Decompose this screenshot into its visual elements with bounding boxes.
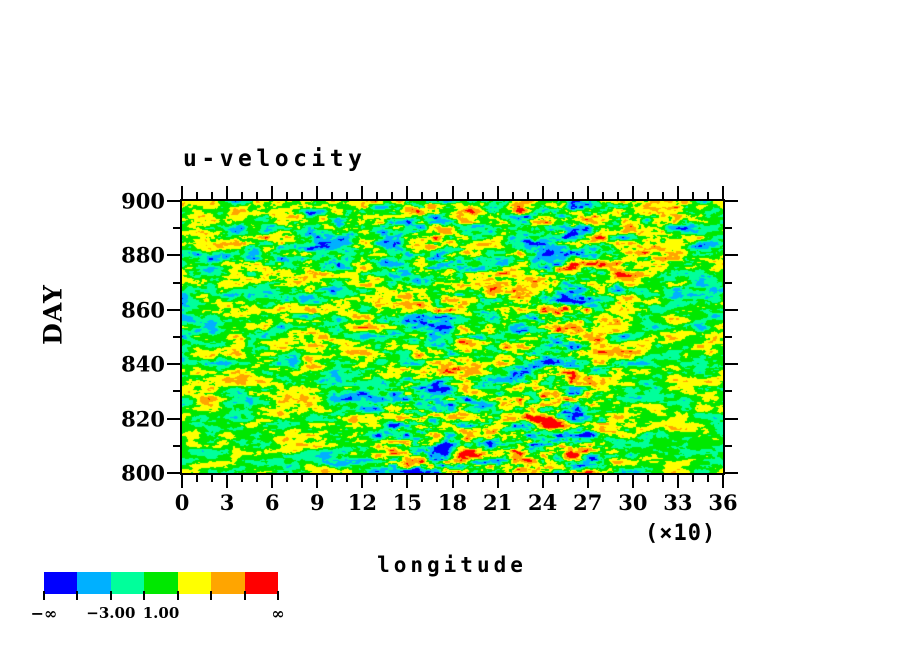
- x-major-tick: [632, 475, 634, 488]
- x-minor-tick: [512, 192, 514, 199]
- x-tick-label: 36: [708, 490, 737, 515]
- x-minor-tick: [421, 475, 423, 482]
- x-minor-tick: [647, 475, 649, 482]
- x-major-tick: [271, 186, 273, 199]
- y-major-tick: [167, 200, 180, 202]
- x-minor-tick: [692, 475, 694, 482]
- x-minor-tick: [196, 475, 198, 482]
- plot-title: u-velocity: [183, 146, 366, 172]
- colorbar-swatch: [111, 572, 144, 594]
- y-major-tick: [725, 254, 738, 256]
- x-minor-tick: [376, 475, 378, 482]
- x-minor-tick: [662, 192, 664, 199]
- x-major-tick: [271, 475, 273, 488]
- x-tick-label: 27: [573, 490, 602, 515]
- x-minor-tick: [527, 475, 529, 482]
- x-minor-tick: [346, 192, 348, 199]
- x-minor-tick: [301, 475, 303, 482]
- x-major-tick: [497, 475, 499, 488]
- y-major-tick: [725, 418, 738, 420]
- colorbar-swatch: [245, 572, 278, 594]
- y-tick-label: 820: [121, 406, 165, 431]
- y-tick-label: 860: [121, 297, 165, 322]
- x-tick-label: 33: [663, 490, 692, 515]
- colorbar-label: −∞: [31, 604, 58, 623]
- plot-frame: [180, 199, 725, 475]
- x-major-tick: [316, 186, 318, 199]
- x-major-tick: [677, 186, 679, 199]
- x-minor-tick: [196, 192, 198, 199]
- y-major-tick: [167, 309, 180, 311]
- x-major-tick: [406, 475, 408, 488]
- colorbar-tick: [43, 591, 45, 600]
- x-tick-label: 0: [175, 490, 190, 515]
- figure-canvas: u-velocity 0369121518212427303336 900880…: [0, 0, 904, 654]
- y-major-tick: [725, 472, 738, 474]
- x-minor-tick: [572, 475, 574, 482]
- x-major-tick: [361, 186, 363, 199]
- y-minor-tick: [173, 445, 180, 447]
- x-major-tick: [406, 186, 408, 199]
- x-major-tick: [497, 186, 499, 199]
- x-major-tick: [632, 186, 634, 199]
- x-minor-tick: [376, 192, 378, 199]
- x-minor-tick: [391, 475, 393, 482]
- x-major-tick: [226, 475, 228, 488]
- x-major-tick: [316, 475, 318, 488]
- x-minor-tick: [436, 475, 438, 482]
- x-minor-tick: [512, 475, 514, 482]
- x-major-tick: [722, 475, 724, 488]
- x-minor-tick: [331, 475, 333, 482]
- x-tick-label: 30: [618, 490, 647, 515]
- x-major-tick: [542, 475, 544, 488]
- x-minor-tick: [647, 192, 649, 199]
- x-minor-tick: [707, 475, 709, 482]
- x-major-tick: [226, 186, 228, 199]
- y-major-tick: [167, 363, 180, 365]
- y-minor-tick: [173, 336, 180, 338]
- x-minor-tick: [572, 192, 574, 199]
- x-tick-label: 12: [348, 490, 377, 515]
- colorbar-label: ∞: [271, 604, 284, 623]
- x-minor-tick: [286, 192, 288, 199]
- x-minor-tick: [346, 475, 348, 482]
- x-minor-tick: [241, 475, 243, 482]
- x-minor-tick: [421, 192, 423, 199]
- y-minor-tick: [173, 227, 180, 229]
- x-major-tick: [181, 475, 183, 488]
- y-minor-tick: [725, 336, 732, 338]
- x-minor-tick: [436, 192, 438, 199]
- colorbar-swatch: [211, 572, 244, 594]
- x-minor-tick: [286, 475, 288, 482]
- x-minor-tick: [662, 475, 664, 482]
- x-major-tick: [722, 186, 724, 199]
- y-axis-title: DAY: [39, 255, 68, 375]
- y-tick-label: 900: [121, 189, 165, 214]
- x-major-tick: [452, 475, 454, 488]
- x-minor-tick: [211, 192, 213, 199]
- x-major-tick: [587, 475, 589, 488]
- x-axis-multiplier-label: (×10): [645, 521, 716, 546]
- y-major-tick: [167, 254, 180, 256]
- x-minor-tick: [256, 192, 258, 199]
- x-tick-label: 3: [220, 490, 235, 515]
- x-minor-tick: [256, 475, 258, 482]
- y-minor-tick: [725, 282, 732, 284]
- colorbar-label: −3.00: [86, 604, 135, 622]
- x-minor-tick: [391, 192, 393, 199]
- x-minor-tick: [617, 192, 619, 199]
- x-minor-tick: [331, 192, 333, 199]
- colorbar-swatch: [44, 572, 77, 594]
- x-tick-label: 15: [393, 490, 422, 515]
- x-minor-tick: [527, 192, 529, 199]
- y-tick-label: 840: [121, 352, 165, 377]
- x-tick-label: 18: [438, 490, 467, 515]
- colorbar-tick: [277, 591, 279, 600]
- x-major-tick: [452, 186, 454, 199]
- y-tick-label: 880: [121, 243, 165, 268]
- colorbar-swatch: [144, 572, 177, 594]
- x-major-tick: [587, 186, 589, 199]
- colorbar-tick: [177, 591, 179, 600]
- x-minor-tick: [301, 192, 303, 199]
- x-tick-label: 24: [528, 490, 557, 515]
- colorbar-swatch: [178, 572, 211, 594]
- heatmap-image: [182, 201, 723, 473]
- y-major-tick: [167, 418, 180, 420]
- x-major-tick: [677, 475, 679, 488]
- x-minor-tick: [602, 192, 604, 199]
- x-minor-tick: [707, 192, 709, 199]
- x-minor-tick: [211, 475, 213, 482]
- y-tick-label: 800: [121, 461, 165, 486]
- x-tick-label: 21: [483, 490, 512, 515]
- y-minor-tick: [725, 390, 732, 392]
- x-major-tick: [361, 475, 363, 488]
- x-tick-label: 6: [265, 490, 280, 515]
- x-minor-tick: [467, 475, 469, 482]
- x-major-tick: [181, 186, 183, 199]
- colorbar-tick: [210, 591, 212, 600]
- x-minor-tick: [482, 475, 484, 482]
- x-major-tick: [542, 186, 544, 199]
- x-minor-tick: [557, 192, 559, 199]
- y-minor-tick: [725, 445, 732, 447]
- y-major-tick: [725, 363, 738, 365]
- colorbar-tick: [76, 591, 78, 600]
- x-minor-tick: [692, 192, 694, 199]
- x-minor-tick: [602, 475, 604, 482]
- colorbar-tick: [143, 591, 145, 600]
- y-major-tick: [725, 309, 738, 311]
- y-major-tick: [725, 200, 738, 202]
- colorbar-tick: [110, 591, 112, 600]
- y-major-tick: [167, 472, 180, 474]
- x-minor-tick: [241, 192, 243, 199]
- colorbar-label: 1.00: [143, 604, 180, 622]
- x-minor-tick: [557, 475, 559, 482]
- x-minor-tick: [467, 192, 469, 199]
- x-minor-tick: [617, 475, 619, 482]
- y-minor-tick: [173, 390, 180, 392]
- colorbar-tick: [244, 591, 246, 600]
- colorbar-swatch: [77, 572, 110, 594]
- y-minor-tick: [173, 282, 180, 284]
- x-minor-tick: [482, 192, 484, 199]
- x-tick-label: 9: [310, 490, 325, 515]
- y-minor-tick: [725, 227, 732, 229]
